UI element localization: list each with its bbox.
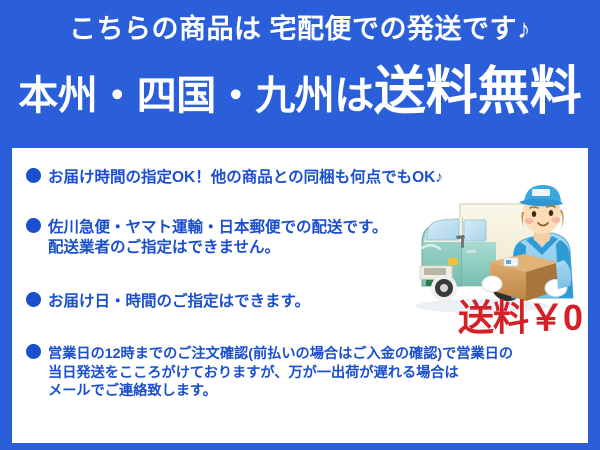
details-panel: お届け時間の指定OK！他の商品との同梱も何点でもOK♪ 佐川急便・ヤマト運輸・日…: [12, 148, 588, 443]
bullet-text-continued: 配送業者のご指定はできません。: [26, 238, 387, 258]
windshield: [426, 219, 459, 240]
bullet-dot-icon: [26, 218, 41, 233]
bullet-text: お届け日・時間のご指定はできます。: [48, 293, 310, 310]
bullet-dot-icon: [26, 168, 41, 183]
courier-glove-left: [482, 276, 502, 292]
list-item: お届け日・時間のご指定はできます。: [26, 292, 310, 312]
bullet-text: お届け時間の指定OK！他の商品との同梱も何点でもOK♪: [48, 169, 443, 186]
bullet-text: 佐川急便・ヤマト運輸・日本郵便での配送です。: [48, 219, 387, 236]
headline-block: こちらの商品は 宅配便での発送です♪ 本州・四国・九州は送料無料: [0, 0, 600, 148]
free-shipping-price-label: 送料￥0: [452, 300, 588, 336]
headline-line-2: 本州・四国・九州は送料無料: [0, 66, 600, 118]
list-item: お届け時間の指定OK！他の商品との同梱も何点でもOK♪: [26, 168, 443, 188]
headline-line-1: こちらの商品は 宅配便での発送です♪: [0, 16, 600, 43]
headline-regions-text: 本州・四国・九州は: [18, 74, 374, 118]
headline-free-shipping-text: 送料無料: [374, 63, 582, 121]
list-item: 佐川急便・ヤマト運輸・日本郵便での配送です。 配送業者のご指定はできません。: [26, 218, 387, 259]
bullet-dot-icon: [26, 292, 41, 307]
shipping-info-banner: こちらの商品は 宅配便での発送です♪ 本州・四国・九州は送料無料 お届け時間の指…: [0, 0, 600, 450]
list-item: 営業日の12時までのご注文確認(前払いの場合はご入金の確認)で営業日の 当日発送…: [26, 344, 513, 401]
bullet-text-continued: メールでご連絡致します。: [26, 382, 513, 401]
bullet-dot-icon: [26, 344, 41, 359]
bullet-text-continued: 当日発送をこころがけておりますが、万が一出荷が遅れる場合は: [26, 364, 513, 383]
